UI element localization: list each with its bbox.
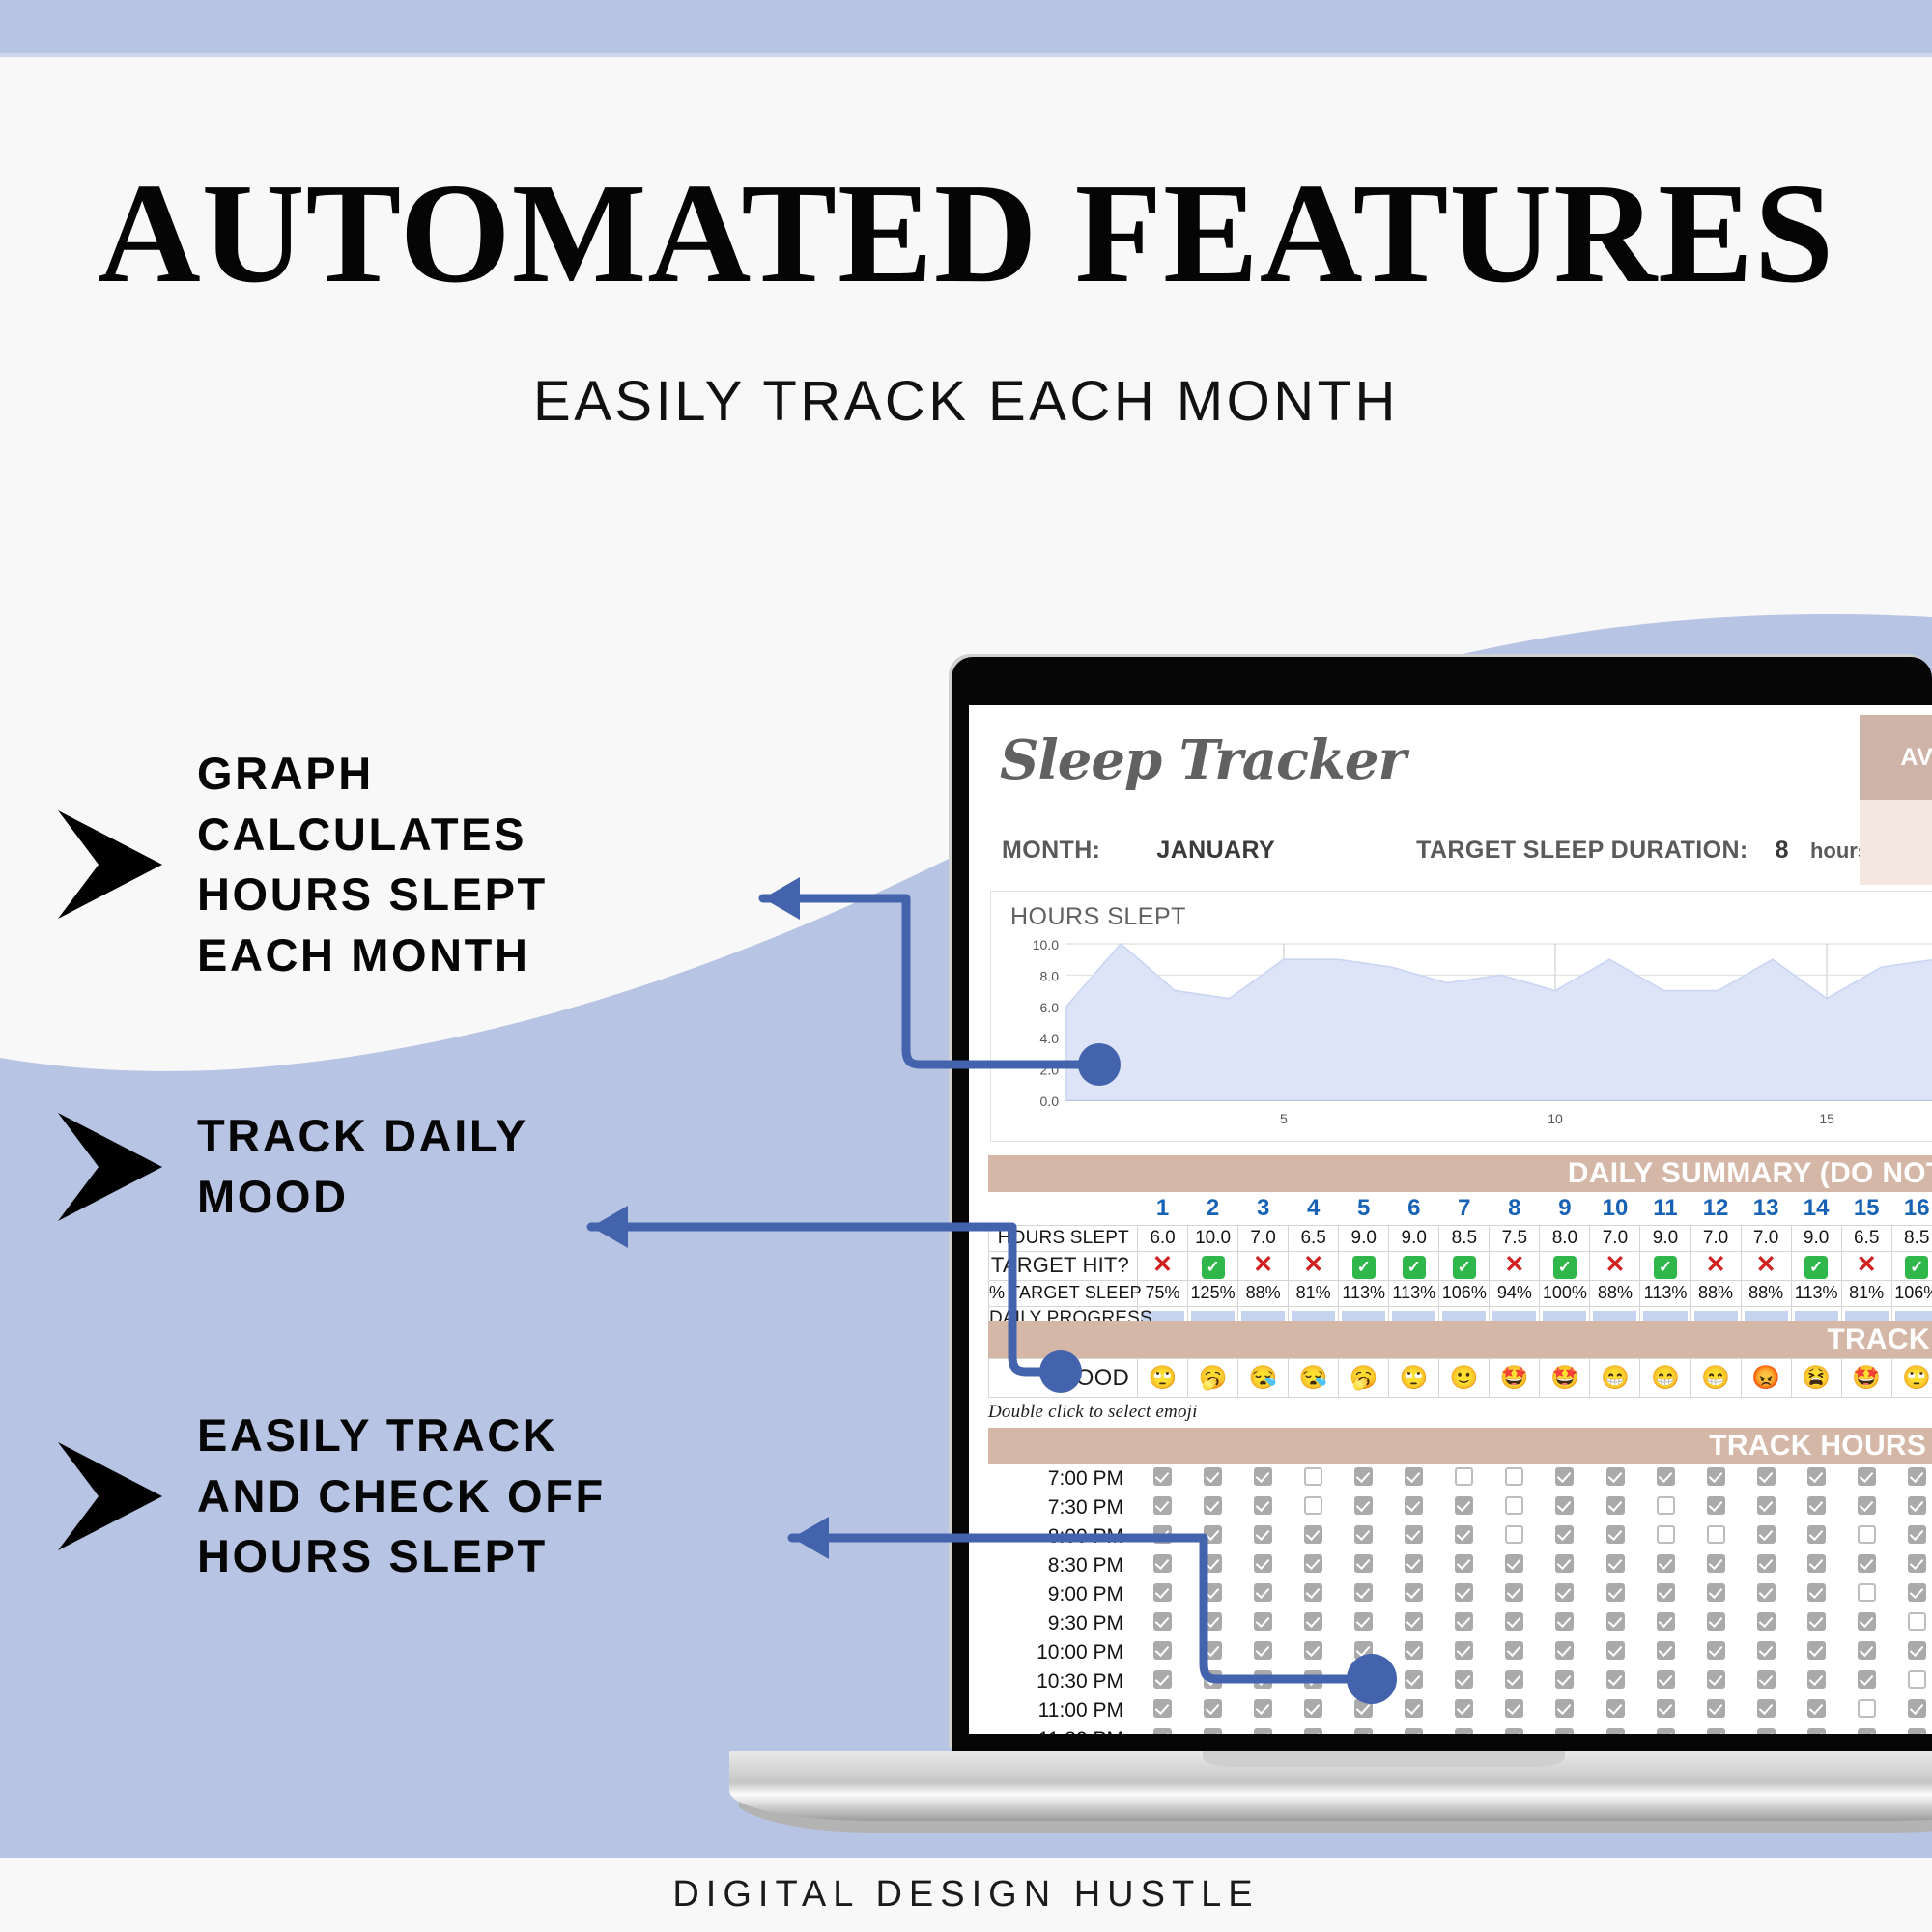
hour-checkbox-cell[interactable]	[1439, 1696, 1490, 1725]
checkbox-icon[interactable]	[1254, 1496, 1272, 1515]
checkbox-icon[interactable]	[1555, 1583, 1574, 1602]
hour-checkbox-cell[interactable]	[1590, 1638, 1640, 1667]
hour-checkbox-cell[interactable]	[1237, 1667, 1288, 1696]
hour-checkbox-cell[interactable]	[1338, 1522, 1388, 1551]
hour-checkbox-cell[interactable]	[1338, 1725, 1388, 1734]
hour-checkbox-cell[interactable]	[1389, 1609, 1439, 1638]
checkbox-icon[interactable]	[1304, 1525, 1322, 1544]
hour-checkbox-cell[interactable]	[1439, 1551, 1490, 1580]
hour-checkbox-cell[interactable]	[1187, 1464, 1237, 1493]
hour-checkbox-cell[interactable]	[1892, 1609, 1932, 1638]
hour-checkbox-cell[interactable]	[1338, 1638, 1388, 1667]
checkbox-icon[interactable]	[1807, 1525, 1826, 1544]
checkbox-icon[interactable]	[1204, 1612, 1222, 1631]
checkbox-icon[interactable]	[1757, 1583, 1776, 1602]
checkbox-icon[interactable]	[1153, 1699, 1172, 1718]
checkbox-icon[interactable]	[1606, 1583, 1625, 1602]
hour-checkbox-cell[interactable]	[1389, 1725, 1439, 1734]
checkbox-icon[interactable]	[1807, 1728, 1826, 1734]
checkbox-icon[interactable]	[1153, 1641, 1172, 1660]
hour-checkbox-cell[interactable]	[1791, 1522, 1841, 1551]
checkbox-icon[interactable]	[1858, 1699, 1876, 1718]
checkbox-icon[interactable]	[1606, 1612, 1625, 1631]
hour-checkbox-cell[interactable]	[1842, 1667, 1892, 1696]
checkbox-icon[interactable]	[1606, 1525, 1625, 1544]
checkbox-icon[interactable]	[1153, 1467, 1172, 1486]
hour-checkbox-cell[interactable]	[1741, 1464, 1791, 1493]
checkbox-icon[interactable]	[1657, 1467, 1675, 1486]
checkbox-icon[interactable]	[1405, 1525, 1423, 1544]
checkbox-icon[interactable]	[1858, 1496, 1876, 1515]
checkbox-icon[interactable]	[1555, 1525, 1574, 1544]
checkbox-icon[interactable]	[1304, 1612, 1322, 1631]
checkbox-icon[interactable]	[1707, 1641, 1725, 1660]
checkbox-icon[interactable]	[1254, 1525, 1272, 1544]
mood-cell[interactable]: 😫	[1791, 1359, 1841, 1398]
checkbox-icon[interactable]	[1757, 1525, 1776, 1544]
checkbox-icon[interactable]	[1455, 1496, 1473, 1515]
hour-checkbox-cell[interactable]	[1640, 1464, 1690, 1493]
checkbox-icon[interactable]	[1908, 1728, 1926, 1734]
checkbox-icon[interactable]	[1757, 1699, 1776, 1718]
hour-checkbox-cell[interactable]	[1490, 1667, 1540, 1696]
checkbox-icon[interactable]	[1555, 1467, 1574, 1486]
hour-checkbox-cell[interactable]	[1187, 1493, 1237, 1522]
checkbox-icon[interactable]	[1254, 1554, 1272, 1573]
checkbox-icon[interactable]	[1555, 1612, 1574, 1631]
checkbox-icon[interactable]	[1757, 1467, 1776, 1486]
checkbox-icon[interactable]	[1757, 1641, 1776, 1660]
checkbox-icon[interactable]	[1455, 1728, 1473, 1734]
hour-checkbox-cell[interactable]	[1590, 1609, 1640, 1638]
checkbox-icon[interactable]	[1505, 1583, 1523, 1602]
hour-checkbox-cell[interactable]	[1640, 1667, 1690, 1696]
hour-checkbox-cell[interactable]	[1842, 1609, 1892, 1638]
hour-checkbox-cell[interactable]	[1490, 1464, 1540, 1493]
checkbox-icon[interactable]	[1657, 1525, 1675, 1544]
checkbox-icon[interactable]	[1807, 1583, 1826, 1602]
hour-checkbox-cell[interactable]	[1640, 1725, 1690, 1734]
hour-checkbox-cell[interactable]	[1540, 1493, 1590, 1522]
checkbox-icon[interactable]	[1858, 1641, 1876, 1660]
checkbox-icon[interactable]	[1405, 1554, 1423, 1573]
hour-checkbox-cell[interactable]	[1338, 1551, 1388, 1580]
checkbox-icon[interactable]	[1657, 1496, 1675, 1515]
hour-checkbox-cell[interactable]	[1590, 1667, 1640, 1696]
checkbox-icon[interactable]	[1555, 1496, 1574, 1515]
hour-checkbox-cell[interactable]	[1842, 1638, 1892, 1667]
hour-checkbox-cell[interactable]	[1237, 1493, 1288, 1522]
checkbox-icon[interactable]	[1304, 1728, 1322, 1734]
hour-checkbox-cell[interactable]	[1640, 1696, 1690, 1725]
checkbox-icon[interactable]	[1707, 1699, 1725, 1718]
checkbox-icon[interactable]	[1858, 1728, 1876, 1734]
hour-checkbox-cell[interactable]	[1389, 1522, 1439, 1551]
checkbox-icon[interactable]	[1807, 1641, 1826, 1660]
hour-checkbox-cell[interactable]	[1237, 1609, 1288, 1638]
checkbox-icon[interactable]	[1807, 1699, 1826, 1718]
hour-checkbox-cell[interactable]	[1741, 1580, 1791, 1609]
checkbox-icon[interactable]	[1354, 1525, 1373, 1544]
hour-checkbox-cell[interactable]	[1288, 1522, 1338, 1551]
hour-checkbox-cell[interactable]	[1288, 1580, 1338, 1609]
hour-checkbox-cell[interactable]	[1389, 1667, 1439, 1696]
hour-checkbox-cell[interactable]	[1137, 1551, 1187, 1580]
checkbox-icon[interactable]	[1505, 1554, 1523, 1573]
mood-cell[interactable]: 😪	[1289, 1359, 1339, 1398]
hour-checkbox-cell[interactable]	[1590, 1522, 1640, 1551]
hour-checkbox-cell[interactable]	[1187, 1522, 1237, 1551]
checkbox-icon[interactable]	[1707, 1496, 1725, 1515]
checkbox-icon[interactable]	[1657, 1728, 1675, 1734]
hour-checkbox-cell[interactable]	[1237, 1725, 1288, 1734]
hour-checkbox-cell[interactable]	[1892, 1522, 1932, 1551]
hour-checkbox-cell[interactable]	[1439, 1522, 1490, 1551]
hour-checkbox-cell[interactable]	[1590, 1696, 1640, 1725]
hour-checkbox-cell[interactable]	[1540, 1638, 1590, 1667]
hour-checkbox-cell[interactable]	[1338, 1696, 1388, 1725]
checkbox-icon[interactable]	[1757, 1612, 1776, 1631]
hour-checkbox-cell[interactable]	[1590, 1493, 1640, 1522]
hour-checkbox-cell[interactable]	[1338, 1493, 1388, 1522]
hour-checkbox-cell[interactable]	[1590, 1551, 1640, 1580]
checkbox-icon[interactable]	[1757, 1554, 1776, 1573]
checkbox-icon[interactable]	[1707, 1670, 1725, 1689]
hour-checkbox-cell[interactable]	[1288, 1609, 1338, 1638]
hour-checkbox-cell[interactable]	[1137, 1493, 1187, 1522]
hour-checkbox-cell[interactable]	[1741, 1725, 1791, 1734]
checkbox-icon[interactable]	[1606, 1496, 1625, 1515]
hour-checkbox-cell[interactable]	[1741, 1609, 1791, 1638]
checkbox-icon[interactable]	[1153, 1554, 1172, 1573]
checkbox-icon[interactable]	[1606, 1728, 1625, 1734]
hour-checkbox-cell[interactable]	[1439, 1667, 1490, 1696]
checkbox-icon[interactable]	[1505, 1641, 1523, 1660]
mood-cell[interactable]: 🙄	[1138, 1359, 1188, 1398]
checkbox-icon[interactable]	[1908, 1670, 1926, 1689]
checkbox-icon[interactable]	[1757, 1670, 1776, 1689]
hour-checkbox-cell[interactable]	[1439, 1464, 1490, 1493]
mood-cell[interactable]: 🤩	[1841, 1359, 1891, 1398]
checkbox-icon[interactable]	[1858, 1583, 1876, 1602]
hour-checkbox-cell[interactable]	[1690, 1609, 1741, 1638]
checkbox-icon[interactable]	[1505, 1525, 1523, 1544]
checkbox-icon[interactable]	[1204, 1583, 1222, 1602]
checkbox-icon[interactable]	[1153, 1496, 1172, 1515]
checkbox-icon[interactable]	[1908, 1554, 1926, 1573]
hour-checkbox-cell[interactable]	[1389, 1580, 1439, 1609]
hour-checkbox-cell[interactable]	[1137, 1638, 1187, 1667]
mood-cell[interactable]: 🙄	[1891, 1359, 1932, 1398]
hour-checkbox-cell[interactable]	[1540, 1696, 1590, 1725]
hour-checkbox-cell[interactable]	[1288, 1464, 1338, 1493]
hour-checkbox-cell[interactable]	[1690, 1696, 1741, 1725]
checkbox-icon[interactable]	[1405, 1467, 1423, 1486]
checkbox-icon[interactable]	[1757, 1496, 1776, 1515]
checkbox-icon[interactable]	[1304, 1583, 1322, 1602]
hour-checkbox-cell[interactable]	[1791, 1696, 1841, 1725]
checkbox-icon[interactable]	[1505, 1670, 1523, 1689]
mood-cell[interactable]: 😁	[1640, 1359, 1690, 1398]
hour-checkbox-cell[interactable]	[1187, 1609, 1237, 1638]
checkbox-icon[interactable]	[1405, 1583, 1423, 1602]
checkbox-icon[interactable]	[1908, 1467, 1926, 1486]
hour-checkbox-cell[interactable]	[1490, 1638, 1540, 1667]
hour-checkbox-cell[interactable]	[1490, 1493, 1540, 1522]
checkbox-icon[interactable]	[1204, 1467, 1222, 1486]
checkbox-icon[interactable]	[1304, 1670, 1322, 1689]
checkbox-icon[interactable]	[1455, 1554, 1473, 1573]
checkbox-icon[interactable]	[1254, 1670, 1272, 1689]
mood-cell[interactable]: 🤩	[1490, 1359, 1540, 1398]
mood-cell[interactable]: 😡	[1741, 1359, 1791, 1398]
checkbox-icon[interactable]	[1455, 1467, 1473, 1486]
checkbox-icon[interactable]	[1204, 1641, 1222, 1660]
mood-cell[interactable]: 😪	[1238, 1359, 1289, 1398]
hour-checkbox-cell[interactable]	[1690, 1580, 1741, 1609]
checkbox-icon[interactable]	[1707, 1612, 1725, 1631]
checkbox-icon[interactable]	[1455, 1583, 1473, 1602]
hour-checkbox-cell[interactable]	[1389, 1696, 1439, 1725]
checkbox-icon[interactable]	[1405, 1728, 1423, 1734]
hour-checkbox-cell[interactable]	[1288, 1493, 1338, 1522]
hour-checkbox-cell[interactable]	[1288, 1551, 1338, 1580]
hour-checkbox-cell[interactable]	[1137, 1696, 1187, 1725]
checkbox-icon[interactable]	[1707, 1467, 1725, 1486]
hour-checkbox-cell[interactable]	[1540, 1609, 1590, 1638]
mood-cell[interactable]: 🙄	[1389, 1359, 1439, 1398]
hour-checkbox-cell[interactable]	[1690, 1725, 1741, 1734]
checkbox-icon[interactable]	[1254, 1728, 1272, 1734]
hour-checkbox-cell[interactable]	[1187, 1725, 1237, 1734]
checkbox-icon[interactable]	[1304, 1554, 1322, 1573]
checkbox-icon[interactable]	[1354, 1699, 1373, 1718]
checkbox-icon[interactable]	[1204, 1728, 1222, 1734]
checkbox-icon[interactable]	[1555, 1699, 1574, 1718]
checkbox-icon[interactable]	[1153, 1583, 1172, 1602]
hour-checkbox-cell[interactable]	[1237, 1696, 1288, 1725]
hour-checkbox-cell[interactable]	[1137, 1580, 1187, 1609]
checkbox-icon[interactable]	[1908, 1496, 1926, 1515]
checkbox-icon[interactable]	[1354, 1670, 1373, 1689]
hour-checkbox-cell[interactable]	[1237, 1551, 1288, 1580]
checkbox-icon[interactable]	[1908, 1612, 1926, 1631]
hour-checkbox-cell[interactable]	[1540, 1522, 1590, 1551]
checkbox-icon[interactable]	[1858, 1554, 1876, 1573]
checkbox-icon[interactable]	[1657, 1641, 1675, 1660]
checkbox-icon[interactable]	[1505, 1699, 1523, 1718]
checkbox-icon[interactable]	[1455, 1641, 1473, 1660]
checkbox-icon[interactable]	[1807, 1496, 1826, 1515]
checkbox-icon[interactable]	[1153, 1728, 1172, 1734]
checkbox-icon[interactable]	[1304, 1699, 1322, 1718]
hour-checkbox-cell[interactable]	[1842, 1551, 1892, 1580]
checkbox-icon[interactable]	[1455, 1699, 1473, 1718]
checkbox-icon[interactable]	[1657, 1554, 1675, 1573]
checkbox-icon[interactable]	[1606, 1699, 1625, 1718]
hour-checkbox-cell[interactable]	[1640, 1609, 1690, 1638]
checkbox-icon[interactable]	[1354, 1728, 1373, 1734]
checkbox-icon[interactable]	[1858, 1525, 1876, 1544]
hour-checkbox-cell[interactable]	[1892, 1464, 1932, 1493]
hour-checkbox-cell[interactable]	[1690, 1667, 1741, 1696]
hour-checkbox-cell[interactable]	[1490, 1580, 1540, 1609]
hour-checkbox-cell[interactable]	[1842, 1696, 1892, 1725]
checkbox-icon[interactable]	[1405, 1641, 1423, 1660]
hour-checkbox-cell[interactable]	[1892, 1493, 1932, 1522]
hour-checkbox-cell[interactable]	[1187, 1696, 1237, 1725]
checkbox-icon[interactable]	[1254, 1699, 1272, 1718]
checkbox-icon[interactable]	[1254, 1467, 1272, 1486]
target-sleep-value[interactable]: 8	[1776, 837, 1789, 865]
hour-checkbox-cell[interactable]	[1791, 1464, 1841, 1493]
checkbox-icon[interactable]	[1606, 1554, 1625, 1573]
hour-checkbox-cell[interactable]	[1791, 1638, 1841, 1667]
hour-checkbox-cell[interactable]	[1187, 1580, 1237, 1609]
hour-checkbox-cell[interactable]	[1590, 1464, 1640, 1493]
hour-checkbox-cell[interactable]	[1288, 1725, 1338, 1734]
hour-checkbox-cell[interactable]	[1842, 1464, 1892, 1493]
checkbox-icon[interactable]	[1204, 1554, 1222, 1573]
hour-checkbox-cell[interactable]	[1690, 1493, 1741, 1522]
hour-checkbox-cell[interactable]	[1842, 1580, 1892, 1609]
hour-checkbox-cell[interactable]	[1842, 1522, 1892, 1551]
hour-checkbox-cell[interactable]	[1892, 1696, 1932, 1725]
hour-checkbox-cell[interactable]	[1237, 1638, 1288, 1667]
hour-checkbox-cell[interactable]	[1237, 1522, 1288, 1551]
hour-checkbox-cell[interactable]	[1137, 1609, 1187, 1638]
hour-checkbox-cell[interactable]	[1338, 1667, 1388, 1696]
checkbox-icon[interactable]	[1354, 1612, 1373, 1631]
hour-checkbox-cell[interactable]	[1540, 1725, 1590, 1734]
hour-checkbox-cell[interactable]	[1490, 1696, 1540, 1725]
hour-checkbox-cell[interactable]	[1338, 1464, 1388, 1493]
checkbox-icon[interactable]	[1455, 1525, 1473, 1544]
checkbox-icon[interactable]	[1354, 1496, 1373, 1515]
hour-checkbox-cell[interactable]	[1389, 1551, 1439, 1580]
hour-checkbox-cell[interactable]	[1892, 1580, 1932, 1609]
checkbox-icon[interactable]	[1606, 1670, 1625, 1689]
hour-checkbox-cell[interactable]	[1741, 1551, 1791, 1580]
hour-checkbox-cell[interactable]	[1690, 1551, 1741, 1580]
hour-checkbox-cell[interactable]	[1389, 1638, 1439, 1667]
checkbox-icon[interactable]	[1657, 1612, 1675, 1631]
checkbox-icon[interactable]	[1757, 1728, 1776, 1734]
checkbox-icon[interactable]	[1807, 1554, 1826, 1573]
hour-checkbox-cell[interactable]	[1439, 1580, 1490, 1609]
checkbox-icon[interactable]	[1606, 1641, 1625, 1660]
hour-checkbox-cell[interactable]	[1640, 1493, 1690, 1522]
checkbox-icon[interactable]	[1908, 1583, 1926, 1602]
hour-checkbox-cell[interactable]	[1338, 1580, 1388, 1609]
checkbox-icon[interactable]	[1153, 1612, 1172, 1631]
hour-checkbox-cell[interactable]	[1137, 1667, 1187, 1696]
hour-checkbox-cell[interactable]	[1540, 1551, 1590, 1580]
hour-checkbox-cell[interactable]	[1892, 1725, 1932, 1734]
hour-checkbox-cell[interactable]	[1490, 1725, 1540, 1734]
hour-checkbox-cell[interactable]	[1640, 1522, 1690, 1551]
hour-checkbox-cell[interactable]	[1842, 1725, 1892, 1734]
hour-checkbox-cell[interactable]	[1187, 1667, 1237, 1696]
hour-checkbox-cell[interactable]	[1187, 1638, 1237, 1667]
checkbox-icon[interactable]	[1405, 1670, 1423, 1689]
checkbox-icon[interactable]	[1908, 1699, 1926, 1718]
hour-checkbox-cell[interactable]	[1439, 1725, 1490, 1734]
hour-checkbox-cell[interactable]	[1389, 1493, 1439, 1522]
hour-checkbox-cell[interactable]	[1690, 1464, 1741, 1493]
hour-checkbox-cell[interactable]	[1490, 1551, 1540, 1580]
checkbox-icon[interactable]	[1505, 1728, 1523, 1734]
hour-checkbox-cell[interactable]	[1590, 1580, 1640, 1609]
checkbox-icon[interactable]	[1254, 1583, 1272, 1602]
hour-checkbox-cell[interactable]	[1137, 1725, 1187, 1734]
hour-checkbox-cell[interactable]	[1741, 1522, 1791, 1551]
checkbox-icon[interactable]	[1505, 1612, 1523, 1631]
hour-checkbox-cell[interactable]	[1791, 1609, 1841, 1638]
checkbox-icon[interactable]	[1254, 1641, 1272, 1660]
hour-checkbox-cell[interactable]	[1640, 1638, 1690, 1667]
checkbox-icon[interactable]	[1204, 1670, 1222, 1689]
checkbox-icon[interactable]	[1707, 1728, 1725, 1734]
checkbox-icon[interactable]	[1204, 1525, 1222, 1544]
checkbox-icon[interactable]	[1807, 1612, 1826, 1631]
hour-checkbox-cell[interactable]	[1439, 1609, 1490, 1638]
hour-checkbox-cell[interactable]	[1791, 1580, 1841, 1609]
checkbox-icon[interactable]	[1405, 1699, 1423, 1718]
checkbox-icon[interactable]	[1858, 1467, 1876, 1486]
hour-checkbox-cell[interactable]	[1540, 1580, 1590, 1609]
checkbox-icon[interactable]	[1354, 1641, 1373, 1660]
mood-cell[interactable]: 🙂	[1439, 1359, 1490, 1398]
checkbox-icon[interactable]	[1354, 1554, 1373, 1573]
hour-checkbox-cell[interactable]	[1741, 1696, 1791, 1725]
checkbox-icon[interactable]	[1707, 1525, 1725, 1544]
hour-checkbox-cell[interactable]	[1137, 1522, 1187, 1551]
hour-checkbox-cell[interactable]	[1892, 1551, 1932, 1580]
hour-checkbox-cell[interactable]	[1137, 1464, 1187, 1493]
hour-checkbox-cell[interactable]	[1338, 1609, 1388, 1638]
hour-checkbox-cell[interactable]	[1490, 1522, 1540, 1551]
checkbox-icon[interactable]	[1455, 1612, 1473, 1631]
mood-cell[interactable]: 🤩	[1540, 1359, 1590, 1398]
checkbox-icon[interactable]	[1304, 1467, 1322, 1486]
hour-checkbox-cell[interactable]	[1540, 1464, 1590, 1493]
checkbox-icon[interactable]	[1555, 1728, 1574, 1734]
hour-checkbox-cell[interactable]	[1640, 1580, 1690, 1609]
hour-checkbox-cell[interactable]	[1791, 1725, 1841, 1734]
checkbox-icon[interactable]	[1153, 1525, 1172, 1544]
checkbox-icon[interactable]	[1354, 1467, 1373, 1486]
hour-checkbox-cell[interactable]	[1640, 1551, 1690, 1580]
hour-checkbox-cell[interactable]	[1741, 1667, 1791, 1696]
hour-checkbox-cell[interactable]	[1237, 1580, 1288, 1609]
hour-checkbox-cell[interactable]	[1791, 1667, 1841, 1696]
checkbox-icon[interactable]	[1657, 1670, 1675, 1689]
checkbox-icon[interactable]	[1304, 1496, 1322, 1515]
checkbox-icon[interactable]	[1254, 1612, 1272, 1631]
checkbox-icon[interactable]	[1505, 1496, 1523, 1515]
checkbox-icon[interactable]	[1455, 1670, 1473, 1689]
hour-checkbox-cell[interactable]	[1439, 1493, 1490, 1522]
hour-checkbox-cell[interactable]	[1741, 1493, 1791, 1522]
checkbox-icon[interactable]	[1657, 1583, 1675, 1602]
hour-checkbox-cell[interactable]	[1791, 1551, 1841, 1580]
month-value[interactable]: JANUARY	[1156, 837, 1275, 865]
hour-checkbox-cell[interactable]	[1690, 1522, 1741, 1551]
hour-checkbox-cell[interactable]	[1288, 1667, 1338, 1696]
checkbox-icon[interactable]	[1204, 1699, 1222, 1718]
checkbox-icon[interactable]	[1908, 1641, 1926, 1660]
